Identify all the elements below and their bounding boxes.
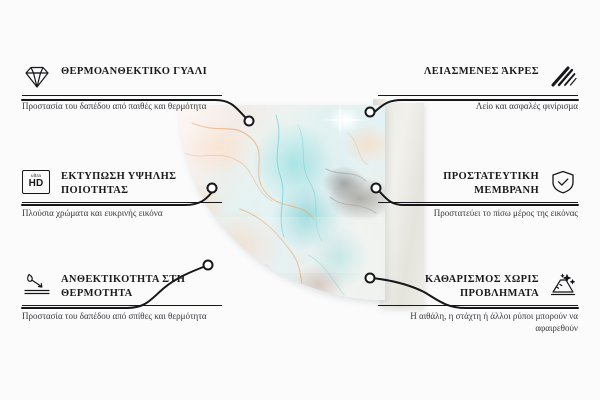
ultra-hd-badge-icon: ultra HD [22, 169, 52, 195]
feature-divider [378, 202, 578, 203]
feature-subtitle: Προστασία του δαπέδου από σπίθες και θερ… [22, 310, 222, 322]
feature-header: ultra HD ΕΚΤΥΠΩΣΗ ΥΨΗΛΗΣ ΠΟΙΟΤΗΤΑΣ [22, 169, 222, 197]
feature-header: ΠΡΟΣΤΑΤΕΥΤΙΚΗ ΜΕΜΒΡΑΝΗ [378, 169, 578, 197]
feature-divider [22, 95, 222, 96]
feature-subtitle: Λείο και ασφαλές φινίρισμα [378, 100, 578, 112]
feature-divider [378, 95, 578, 96]
infographic-canvas: ΘΕΡΜΟΑΝΘΕΚΤΙΚΟ ΓΥΑΛΙ Προστασία του δαπέδ… [0, 0, 600, 400]
feature-header: ΚΑΘΑΡΙΣΜΟΣ ΧΩΡΙΣ ΠΡΟΒΛΗΜΑΤΑ [378, 272, 578, 300]
shield-check-icon [548, 169, 578, 195]
feature-high-quality-print[interactable]: ultra HD ΕΚΤΥΠΩΣΗ ΥΨΗΛΗΣ ΠΟΙΟΤΗΤΑΣ Πλούσ… [22, 169, 222, 219]
diamond-icon [22, 64, 52, 90]
feature-title: ΑΝΘΕΚΤΙΚΟΤΗΤΑ ΣΤΗ ΘΕΡΜΟΤΗΤΑ [61, 272, 222, 300]
flame-deflect-icon [22, 272, 52, 298]
feature-subtitle: Πλούσια χρώματα και ευκρινής εικόνα [22, 207, 222, 219]
feature-title: ΛΕΙΑΣΜΕΝΕΣ ΆΚΡΕΣ [424, 64, 539, 79]
feature-heat-durability[interactable]: ΑΝΘΕΚΤΙΚΟΤΗΤΑ ΣΤΗ ΘΕΡΜΟΤΗΤΑ Προστασία το… [22, 272, 222, 322]
feature-polished-edges[interactable]: ΛΕΙΑΣΜΕΝΕΣ ΆΚΡΕΣ Λείο και ασφαλές φινίρι… [378, 64, 578, 112]
feature-title: ΠΡΟΣΤΑΤΕΥΤΙΚΗ ΜΕΜΒΡΑΝΗ [378, 169, 539, 197]
feature-subtitle: Η αιθάλη, η στάχτη ή άλλοι ρύποι μπορούν… [378, 310, 578, 334]
feature-title: ΕΚΤΥΠΩΣΗ ΥΨΗΛΗΣ ΠΟΙΟΤΗΤΑΣ [61, 169, 222, 197]
sponge-sparkle-icon [548, 272, 578, 298]
feature-title: ΚΑΘΑΡΙΣΜΟΣ ΧΩΡΙΣ ΠΡΟΒΛΗΜΑΤΑ [378, 272, 539, 300]
feature-title: ΘΕΡΜΟΑΝΘΕΚΤΙΚΟ ΓΥΑΛΙ [61, 64, 207, 79]
feature-header: ΘΕΡΜΟΑΝΘΕΚΤΙΚΟ ΓΥΑΛΙ [22, 64, 222, 90]
ultra-hd-bottom-label: HD [29, 179, 44, 190]
feature-divider [22, 305, 222, 306]
feature-subtitle: Προστασία του δαπέδου από παιθές και θερ… [22, 100, 222, 112]
feature-protective-membrane[interactable]: ΠΡΟΣΤΑΤΕΥΤΙΚΗ ΜΕΜΒΡΑΝΗ Προστατεύει το πί… [378, 169, 578, 219]
feature-divider [378, 305, 578, 306]
beveled-edges-icon [548, 64, 578, 90]
feature-header: ΛΕΙΑΣΜΕΝΕΣ ΆΚΡΕΣ [378, 64, 578, 90]
feature-divider [22, 202, 222, 203]
feature-easy-cleaning[interactable]: ΚΑΘΑΡΙΣΜΟΣ ΧΩΡΙΣ ΠΡΟΒΛΗΜΑΤΑ Η αιθάλη, η … [378, 272, 578, 334]
feature-header: ΑΝΘΕΚΤΙΚΟΤΗΤΑ ΣΤΗ ΘΕΡΜΟΤΗΤΑ [22, 272, 222, 300]
feature-heat-resistant-glass[interactable]: ΘΕΡΜΟΑΝΘΕΚΤΙΚΟ ΓΥΑΛΙ Προστασία του δαπέδ… [22, 64, 222, 112]
feature-subtitle: Προστατεύει το πίσω μέρος της εικόνας [378, 207, 578, 219]
